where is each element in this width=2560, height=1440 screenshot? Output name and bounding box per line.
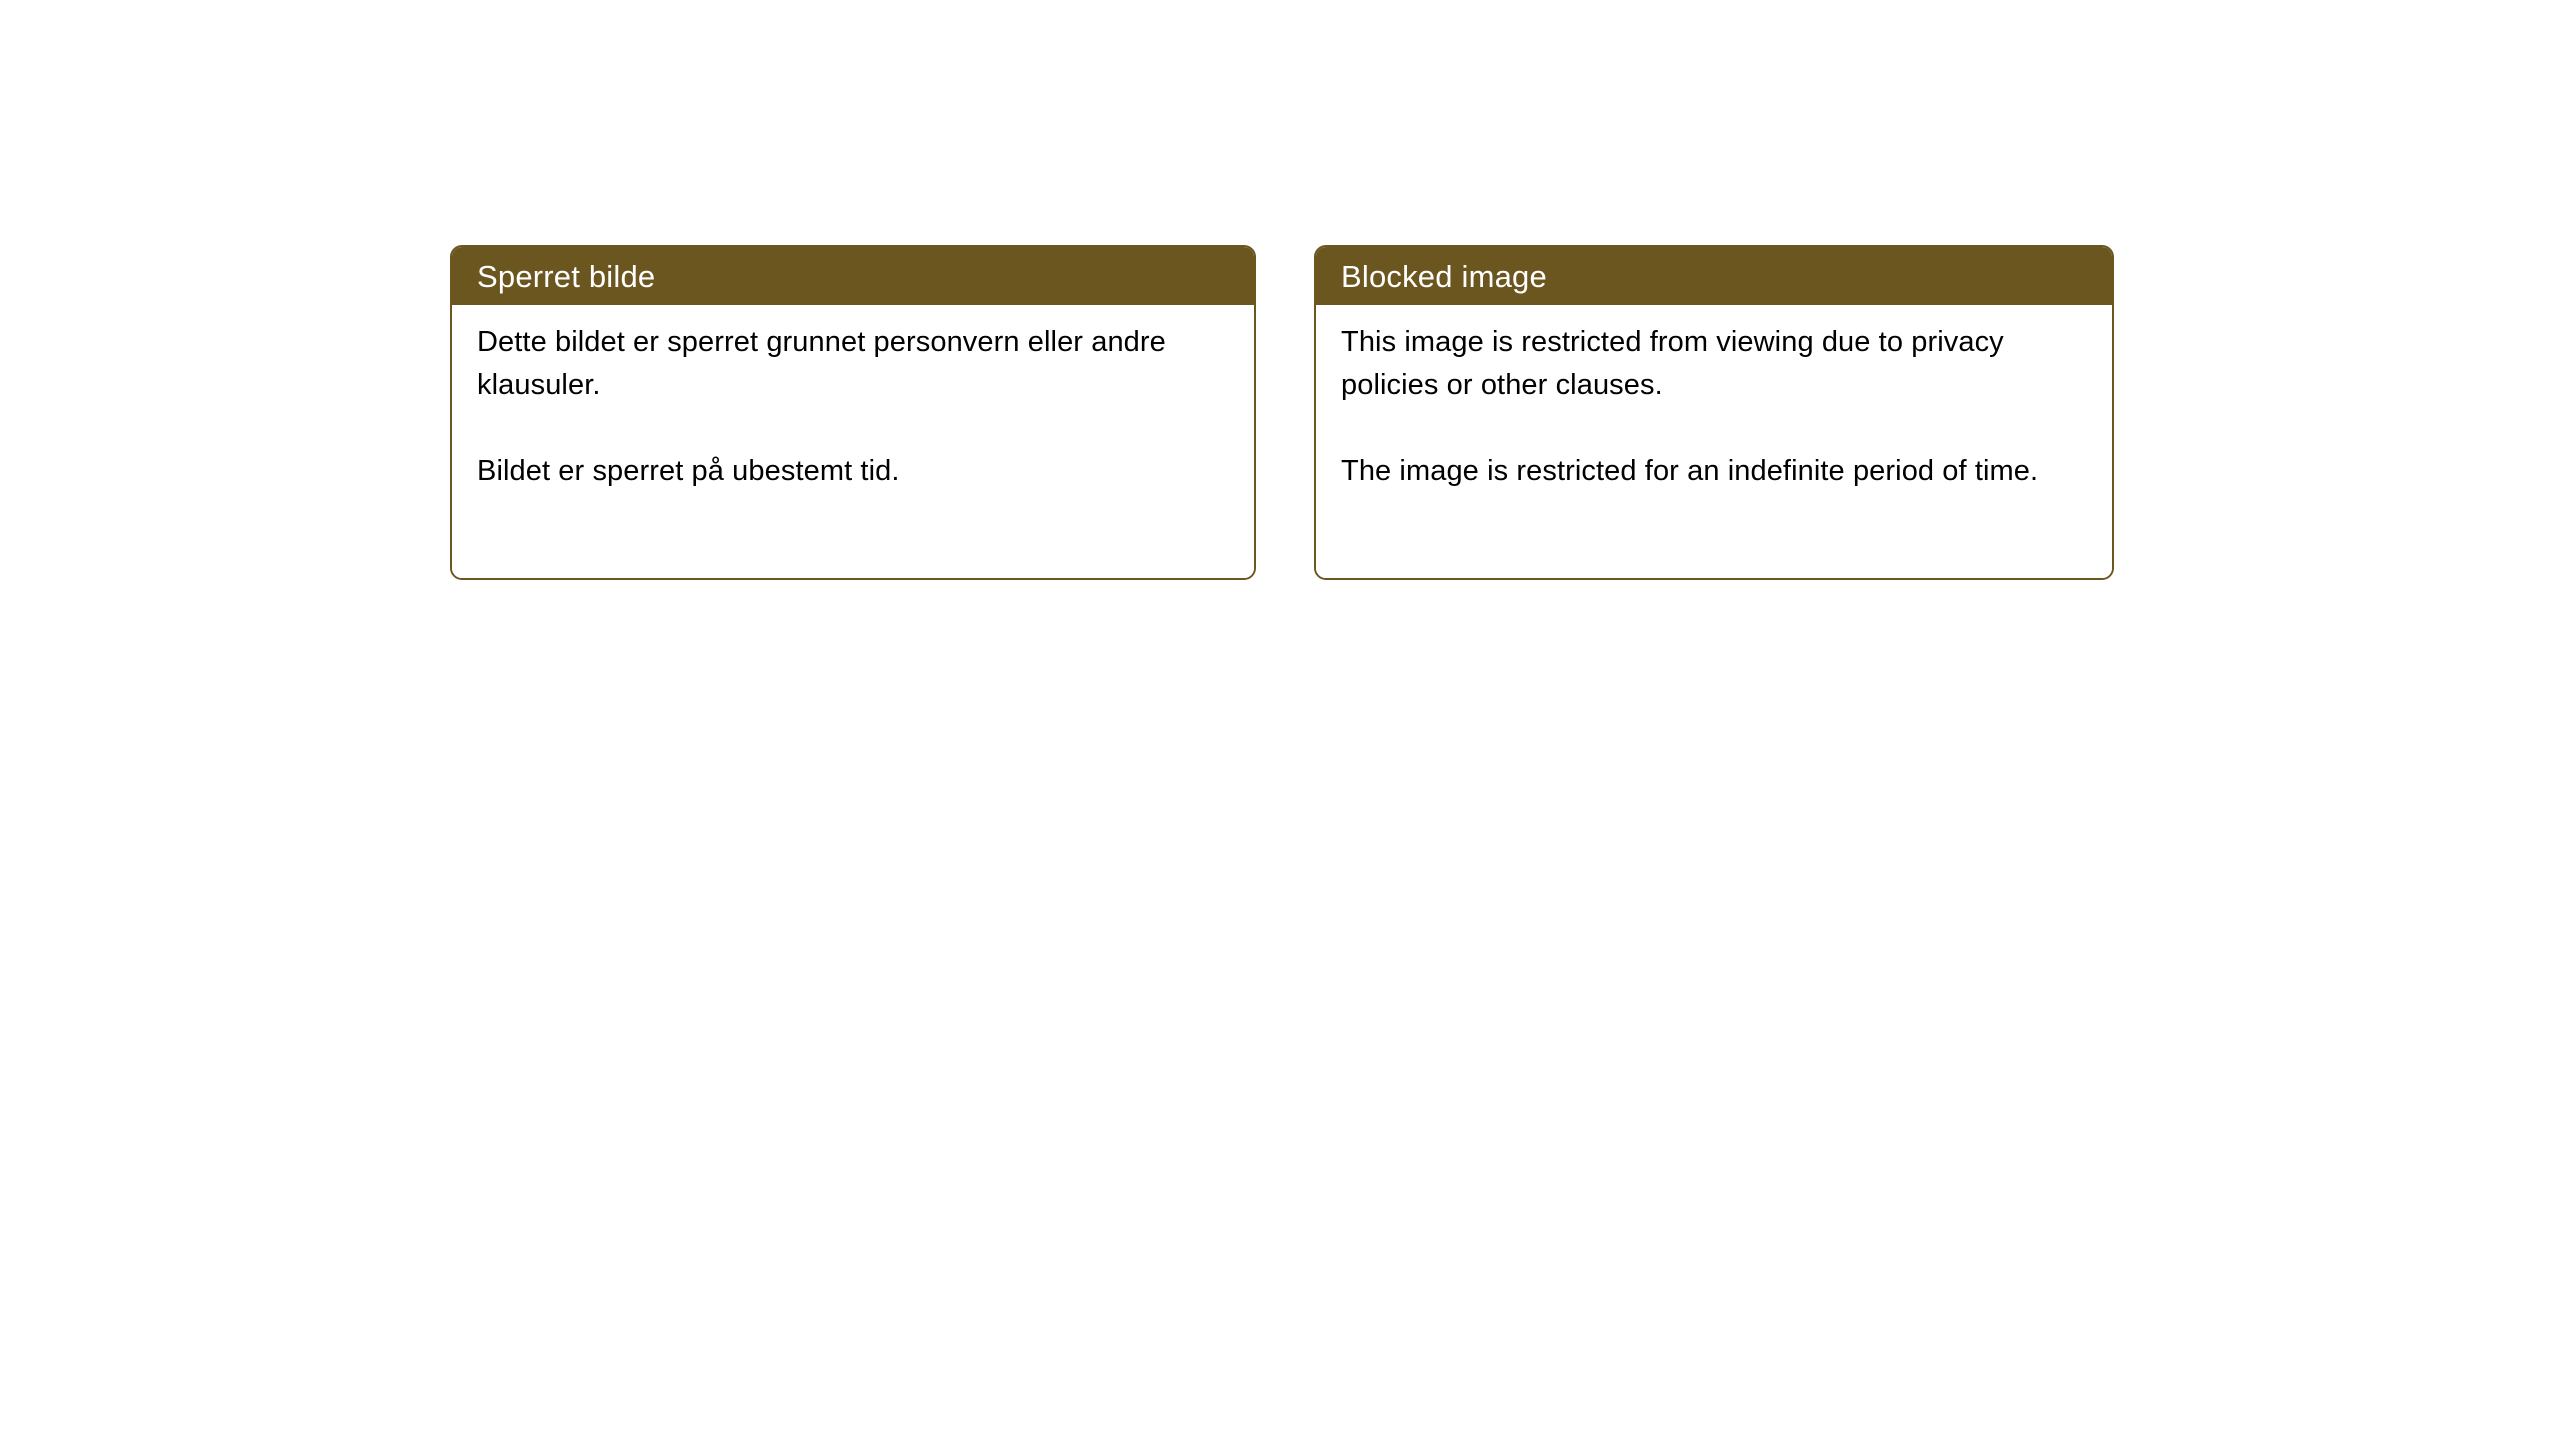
card-header-norwegian: Sperret bilde — [452, 247, 1254, 305]
card-paragraph-primary-norwegian: Dette bildet er sperret grunnet personve… — [477, 321, 1232, 407]
card-body-norwegian: Dette bildet er sperret grunnet personve… — [452, 305, 1254, 578]
card-paragraph-primary-english: This image is restricted from viewing du… — [1341, 321, 2090, 407]
card-title-english: Blocked image — [1341, 261, 1547, 292]
card-title-norwegian: Sperret bilde — [477, 261, 655, 292]
blocked-image-card-english: Blocked image This image is restricted f… — [1314, 245, 2114, 580]
paragraph-spacer-english — [1341, 407, 2090, 450]
card-paragraph-secondary-norwegian: Bildet er sperret på ubestemt tid. — [477, 450, 1232, 493]
card-header-english: Blocked image — [1316, 247, 2112, 305]
blocked-image-card-norwegian: Sperret bilde Dette bildet er sperret gr… — [450, 245, 1256, 580]
card-paragraph-secondary-english: The image is restricted for an indefinit… — [1341, 450, 2090, 493]
blocked-image-notice-container: Sperret bilde Dette bildet er sperret gr… — [450, 245, 2114, 580]
paragraph-spacer-norwegian — [477, 407, 1232, 450]
card-body-english: This image is restricted from viewing du… — [1316, 305, 2112, 578]
